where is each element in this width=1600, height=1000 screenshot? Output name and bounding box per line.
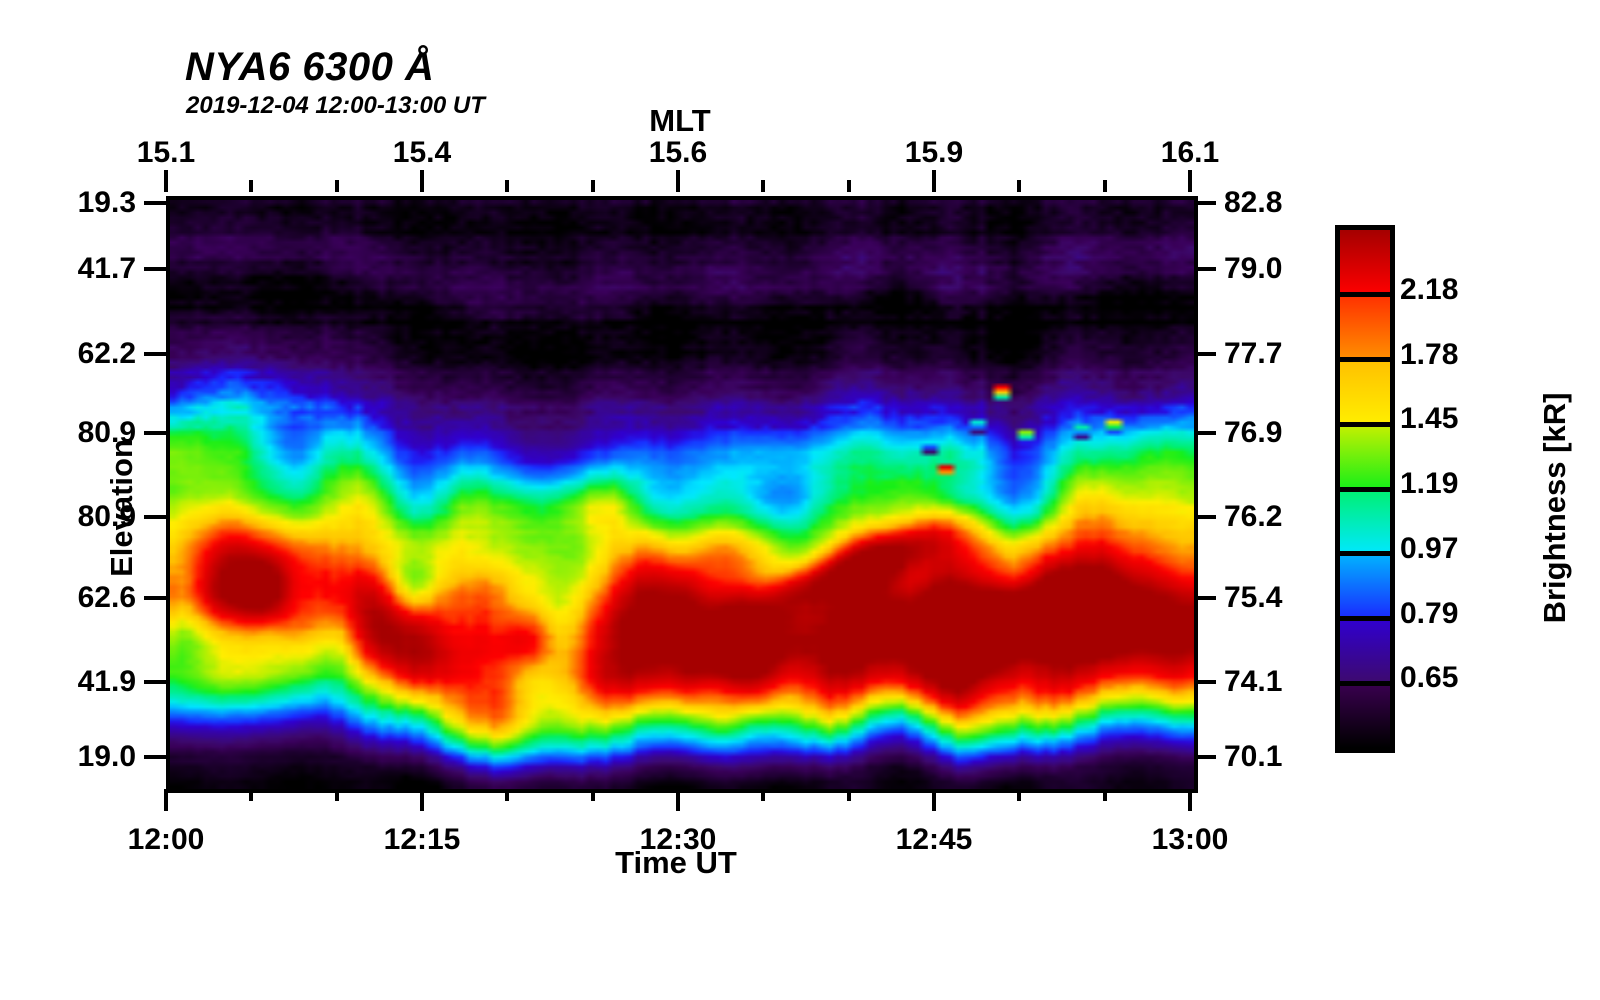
bottom-tick-2 [676,789,680,811]
top-tick-4 [1188,170,1192,192]
colorbar-tick-label-0: 2.18 [1400,273,1458,307]
bottom-minor-tick-2 [335,789,339,801]
top-tick-label-1: 15.4 [393,136,451,170]
bottom-minor-tick-11 [1103,789,1107,801]
bottom-tick-label-2: 12:30 [640,823,717,857]
right-tick-label-5: 75.4 [1224,581,1282,615]
bottom-tick-1 [420,789,424,811]
colorbar-separator-1 [1340,681,1390,686]
subtitle: 2019-12-04 12:00-13:00 UT [186,92,485,120]
colorbar-band-5 [1340,360,1390,425]
colorbar-tick-label-5: 0.79 [1400,597,1458,631]
top-minor-tick-8 [847,180,851,192]
colorbar-separator-2 [1340,616,1390,621]
right-tick-2 [1194,352,1216,356]
top-minor-tick-11 [1103,180,1107,192]
bottom-minor-tick-7 [761,789,765,801]
top-minor-tick-4 [505,180,509,192]
bottom-tick-label-3: 12:45 [896,823,973,857]
left-tick-label-0: 19.3 [6,186,136,220]
left-tick-label-6: 41.9 [6,665,136,699]
right-tick-label-4: 76.2 [1224,500,1282,534]
colorbar-band-0 [1340,683,1390,748]
colorbar-tick-label-3: 1.19 [1400,467,1458,501]
top-minor-tick-5 [591,180,595,192]
top-axis-title: MLT [535,103,825,139]
top-minor-tick-2 [335,180,339,192]
keogram-figure: NYA6 6300 Å 2019-12-04 12:00-13:00 UT ML… [0,0,1600,1000]
left-tick-3 [144,431,166,435]
right-tick-label-1: 79.0 [1224,252,1282,286]
plot-area [166,196,1198,793]
top-tick-1 [420,170,424,192]
left-tick-5 [144,596,166,600]
colorbar-separator-5 [1340,422,1390,427]
top-tick-3 [932,170,936,192]
bottom-minor-tick-10 [1017,789,1021,801]
colorbar-separator-7 [1340,292,1390,297]
right-tick-3 [1194,431,1216,435]
left-tick-7 [144,755,166,759]
left-tick-2 [144,352,166,356]
left-tick-label-3: 80.9 [6,416,136,450]
bottom-tick-3 [932,789,936,811]
top-tick-label-4: 16.1 [1161,136,1219,170]
bottom-minor-tick-4 [505,789,509,801]
right-tick-0 [1194,201,1216,205]
top-minor-tick-1 [249,180,253,192]
top-tick-label-0: 15.1 [137,136,195,170]
top-minor-tick-7 [761,180,765,192]
bottom-tick-label-1: 12:15 [384,823,461,857]
bottom-tick-0 [164,789,168,811]
bottom-tick-4 [1188,789,1192,811]
left-tick-1 [144,267,166,271]
colorbar-tick-label-4: 0.97 [1400,532,1458,566]
left-tick-label-2: 62.2 [6,337,136,371]
bottom-minor-tick-8 [847,789,851,801]
right-tick-4 [1194,515,1216,519]
left-tick-0 [144,201,166,205]
bottom-tick-label-0: 12:00 [128,823,205,857]
top-tick-0 [164,170,168,192]
colorbar-tick-label-6: 0.65 [1400,661,1458,695]
colorbar-band-6 [1340,295,1390,360]
left-tick-4 [144,515,166,519]
right-tick-label-7: 70.1 [1224,740,1282,774]
colorbar-band-4 [1340,424,1390,489]
left-tick-label-1: 41.7 [6,252,136,286]
left-tick-label-4: 80.9 [6,500,136,534]
page-title: NYA6 6300 Å [185,45,434,90]
right-tick-label-3: 76.9 [1224,416,1282,450]
top-tick-label-2: 15.6 [649,136,707,170]
top-tick-label-3: 15.9 [905,136,963,170]
top-tick-2 [676,170,680,192]
right-tick-5 [1194,596,1216,600]
colorbar-tick-label-2: 1.45 [1400,402,1458,436]
colorbar-separator-6 [1340,357,1390,362]
left-tick-6 [144,680,166,684]
right-tick-6 [1194,680,1216,684]
right-tick-label-6: 74.1 [1224,665,1282,699]
colorbar-title: Brightness [kR] [1537,308,1573,708]
colorbar [1335,225,1395,753]
bottom-minor-tick-1 [249,789,253,801]
colorbar-band-2 [1340,554,1390,619]
right-tick-7 [1194,755,1216,759]
colorbar-separator-3 [1340,551,1390,556]
colorbar-tick-label-1: 1.78 [1400,338,1458,372]
colorbar-band-3 [1340,489,1390,554]
keogram-image [170,200,1194,789]
colorbar-band-7 [1340,230,1390,295]
keogram-heatmap [170,200,1194,789]
right-tick-label-0: 82.8 [1224,186,1282,220]
bottom-minor-tick-5 [591,789,595,801]
left-tick-label-5: 62.6 [6,581,136,615]
colorbar-band-1 [1340,619,1390,684]
bottom-tick-label-4: 13:00 [1152,823,1229,857]
left-tick-label-7: 19.0 [6,740,136,774]
right-tick-1 [1194,267,1216,271]
top-minor-tick-10 [1017,180,1021,192]
right-tick-label-2: 77.7 [1224,337,1282,371]
colorbar-separator-4 [1340,487,1390,492]
